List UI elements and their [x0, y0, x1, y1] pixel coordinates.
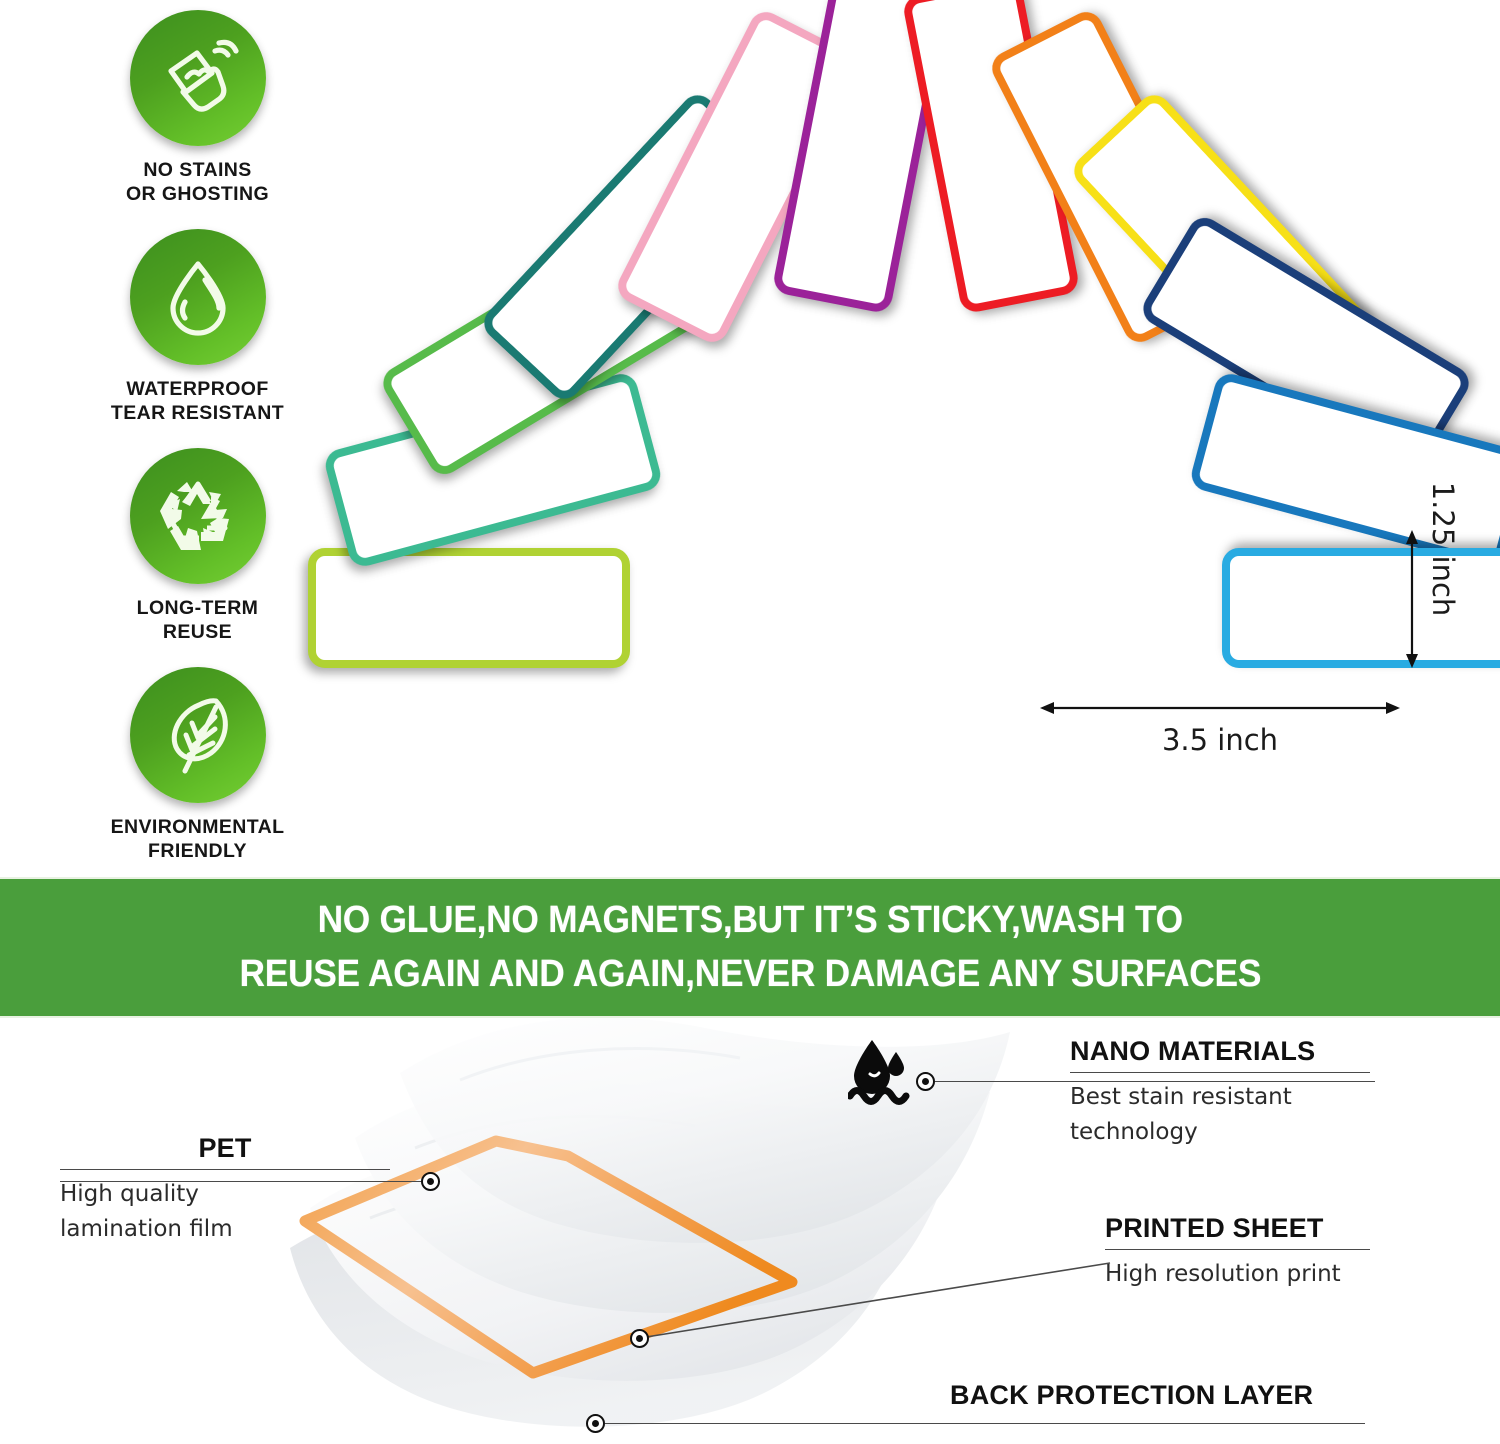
callout-title: BACK PROTECTION LAYER	[950, 1380, 1350, 1411]
callout-desc: Best stain resistant technology	[1070, 1080, 1370, 1149]
callout-desc: High quality lamination film	[60, 1177, 390, 1246]
callout-printed-sheet: PRINTED SHEET High resolution print	[1105, 1213, 1370, 1292]
callout-title: NANO MATERIALS	[1070, 1036, 1370, 1067]
callout-title: PET	[60, 1133, 390, 1164]
leader-dot-pet	[421, 1172, 440, 1191]
callout-pet: PET High quality lamination film	[60, 1133, 390, 1246]
promo-banner: NO GLUE,NO MAGNETS,BUT IT’S STICKY,WASH …	[0, 877, 1500, 1018]
water-drop-waves-icon	[848, 1038, 910, 1110]
banner-line-2: REUSE AGAIN AND AGAIN,NEVER DAMAGE ANY S…	[239, 948, 1261, 1002]
leader-line-back	[605, 1423, 1365, 1424]
dimension-arrow-height	[1404, 530, 1420, 668]
product-infographic: NO STAINS OR GHOSTING WATERPROOF TEAR RE…	[0, 0, 1500, 1444]
layer-diagram-section: PET High quality lamination film NANO MA…	[0, 1018, 1500, 1444]
callout-rule	[60, 1169, 390, 1170]
dimension-label-width: 3.5 inch	[1040, 723, 1400, 757]
callout-rule	[1105, 1249, 1370, 1250]
dimension-label-height: 1.25 inch	[1426, 480, 1460, 618]
callout-nano: NANO MATERIALS Best stain resistant tech…	[1070, 1036, 1370, 1149]
banner-line-1: NO GLUE,NO MAGNETS,BUT IT’S STICKY,WASH …	[317, 894, 1182, 948]
callout-rule	[1070, 1072, 1370, 1073]
leader-dot-nano	[916, 1072, 935, 1091]
top-section: NO STAINS OR GHOSTING WATERPROOF TEAR RE…	[0, 0, 1500, 877]
callout-title: PRINTED SHEET	[1105, 1213, 1370, 1244]
leader-dot-back	[586, 1414, 605, 1433]
callout-back-protection: BACK PROTECTION LAYER	[950, 1380, 1350, 1411]
dimension-arrow-width	[1040, 700, 1400, 716]
leader-line-printed	[630, 1258, 1130, 1348]
label-card-lime-green[interactable]	[308, 548, 630, 668]
leader-dot-printed	[630, 1329, 649, 1348]
callout-desc: High resolution print	[1105, 1257, 1370, 1292]
